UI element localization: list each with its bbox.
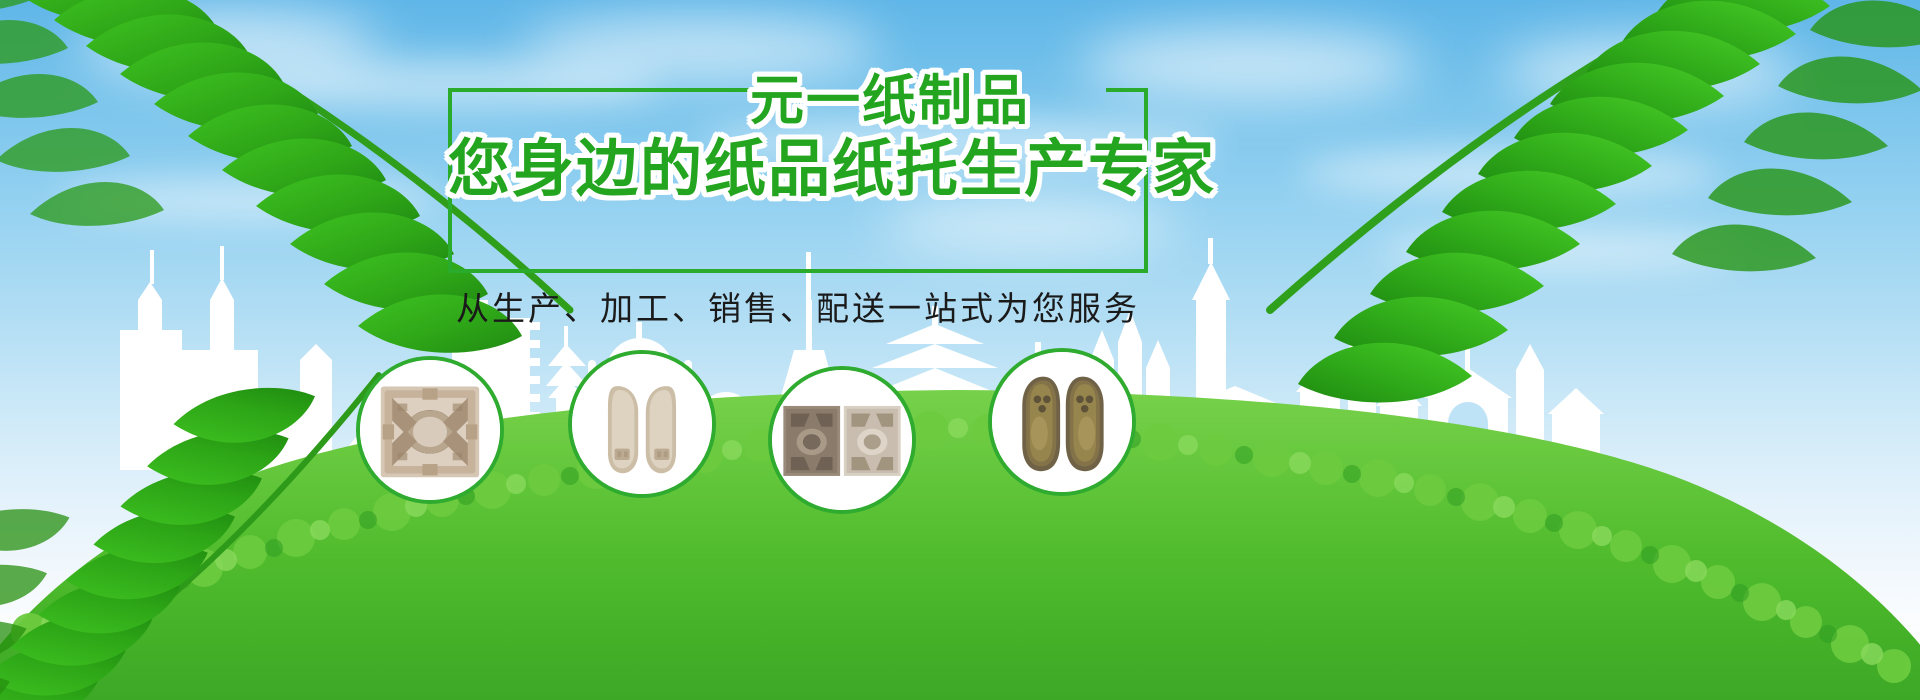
cloud-icon: [1300, 150, 1720, 196]
molded-pulp-square-tray-icon: [360, 360, 500, 500]
cloud-icon: [80, 10, 380, 80]
cloud-icon: [1500, 40, 1800, 104]
product-circle-molded-pulp-shoe-trees[interactable]: [988, 348, 1136, 496]
green-hill: [0, 280, 1920, 700]
product-circle-molded-pulp-square-tray[interactable]: [356, 356, 504, 504]
cloud-icon: [1380, 230, 1740, 270]
promo-banner: 元一纸制品 您身边的纸品纸托生产专家 从生产、加工、销售、配送一站式为您服务: [0, 0, 1920, 700]
molded-pulp-shoe-trees-icon: [992, 352, 1132, 492]
headline-frame: 元一纸制品 您身边的纸品纸托生产专家: [448, 88, 1148, 273]
product-circle-molded-pulp-corner-protectors[interactable]: [768, 366, 916, 514]
palm-leaf-icon: [1190, 0, 1920, 430]
molded-pulp-corner-protectors-icon: [772, 370, 912, 510]
cloud-icon: [60, 180, 440, 220]
product-circle-molded-pulp-shoe-insoles[interactable]: [568, 350, 716, 498]
headline-secondary: 您身边的纸品纸托生产专家: [448, 134, 1148, 206]
banner-subtitle: 从生产、加工、销售、配送一站式为您服务: [448, 288, 1148, 330]
headline-primary: 元一纸制品: [540, 70, 1240, 132]
molded-pulp-shoe-insoles-icon: [572, 354, 712, 494]
product-gallery: [0, 348, 1920, 528]
